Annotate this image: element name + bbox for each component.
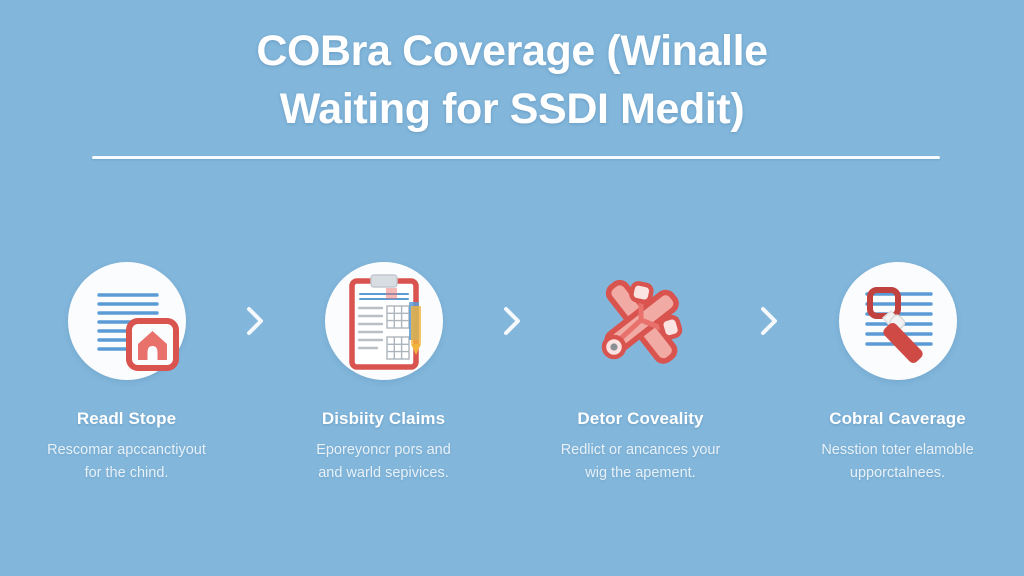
header-divider [92,156,940,159]
steps-row: Readl Stope Rescomar apccanctiyout for t… [0,262,1024,485]
clipboard-checklist-pencil-icon [325,262,443,380]
step-4-description: Nesstion toter elamoble upporctalnees. [815,439,979,485]
page-title-line-1: COBra Coverage (Winalle [256,27,767,75]
step-separator-1 [229,262,281,380]
step-2-description-line-2: and warld sepivices. [318,465,449,481]
step-3-description: Redlict or ancances your wig the apement… [555,439,727,485]
step-2-description-line-1: Eporeyoncr pors and [316,442,451,458]
chevron-right-icon [242,303,268,339]
medical-cross-stethoscope-icon [582,262,700,380]
step-item-1[interactable]: Readl Stope Rescomar apccanctiyout for t… [24,262,229,485]
step-item-2[interactable]: Disbiity Claims Eporeyoncr pors and and … [281,262,486,485]
document-home-icon [68,262,186,380]
step-2-description: Eporeyoncr pors and and warld sepivices. [310,439,457,485]
step-item-3[interactable]: Detor Coveality Redlict or ancances your… [538,262,743,485]
step-1-description-line-1: Rescomar apccanctiyout [47,442,206,458]
step-3-icon-wrap [582,262,700,380]
step-3-title: Detor Coveality [577,408,703,430]
header: COBra Coverage (Winalle Waiting for SSDI… [0,0,1024,138]
step-4-icon-wrap [839,262,957,380]
step-1-title: Readl Stope [77,408,176,430]
step-4-description-line-1: Nesstion toter elamoble [821,442,973,458]
step-2-icon-wrap [325,262,443,380]
chevron-right-icon [756,303,782,339]
step-3-description-line-2: wig the apement. [585,465,695,481]
page-title: COBra Coverage (Winalle Waiting for SSDI… [0,22,1024,138]
step-1-icon-wrap [68,262,186,380]
step-4-description-line-2: upporctalnees. [850,465,945,481]
step-item-4[interactable]: Cobral Caverage Nesstion toter elamoble … [795,262,1000,485]
step-2-title: Disbiity Claims [322,408,445,430]
step-4-title: Cobral Caverage [829,408,966,430]
step-3-description-line-1: Redlict or ancances your [561,442,721,458]
page-title-line-2: Waiting for SSDI Medit) [280,85,745,133]
step-1-description: Rescomar apccanctiyout for the chind. [41,439,212,485]
step-separator-2 [486,262,538,380]
chevron-right-icon [499,303,525,339]
step-1-description-line-2: for the chind. [85,465,169,481]
step-separator-3 [743,262,795,380]
document-magnifier-icon [839,262,957,380]
